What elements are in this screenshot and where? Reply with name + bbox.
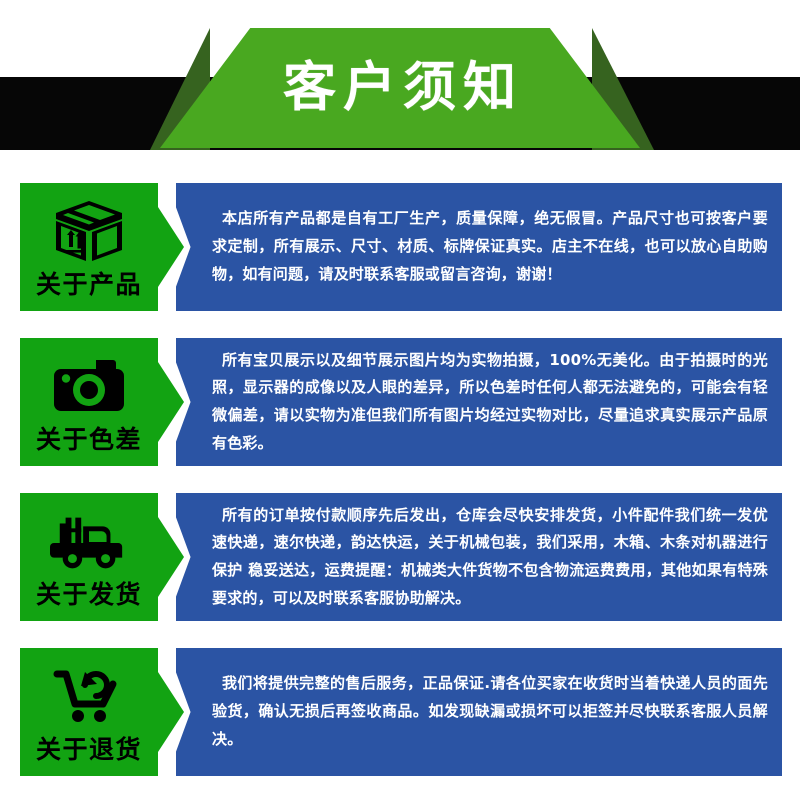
notice-arrow-tip xyxy=(158,362,184,442)
notice-body-text: 所有宝贝展示以及细节展示图片均为实物拍摄，100%无美化。由于拍摄时的光照，显示… xyxy=(212,347,768,458)
notice-label-text: 关于色差 xyxy=(36,426,142,454)
notice-label-panel[interactable]: 关于退货 xyxy=(20,648,158,776)
return-cart-icon xyxy=(50,662,128,732)
notice-label-text: 关于发货 xyxy=(36,581,142,609)
notice-arrow-tip xyxy=(158,517,184,597)
notice-body-panel: 所有的订单按付款顺序先后发出，仓库会尽快安排发货，小件配件我们统一发优速快递，速… xyxy=(176,493,782,621)
notice-label-panel[interactable]: 关于发货 xyxy=(20,493,158,621)
notice-label-panel[interactable]: 关于产品 xyxy=(20,183,158,311)
notice-block: 关于产品 本店所有产品都是自有工厂生产，质量保障，绝无假冒。产品尺寸也可按客户要… xyxy=(0,183,800,311)
banner-ribbon: 客户须知 xyxy=(160,28,640,148)
customer-notice-page: 客户须知 xyxy=(0,0,800,800)
notice-body-text: 本店所有产品都是自有工厂生产，质量保障，绝无假冒。产品尺寸也可按客户要求定制，所… xyxy=(212,205,768,288)
notice-block-list: 关于产品 本店所有产品都是自有工厂生产，质量保障，绝无假冒。产品尺寸也可按客户要… xyxy=(0,165,800,776)
forklift-truck-icon xyxy=(50,507,128,577)
camera-icon xyxy=(50,352,128,422)
notice-label-panel[interactable]: 关于色差 xyxy=(20,338,158,466)
carton-box-icon xyxy=(50,197,128,267)
notice-label-text: 关于退货 xyxy=(36,736,142,764)
header-banner: 客户须知 xyxy=(0,0,800,165)
notice-body-panel: 我们将提供完整的售后服务，正品保证.请各位买家在收货时当着快递人员的面先验货，确… xyxy=(176,648,782,776)
notice-arrow-tip xyxy=(158,672,184,752)
notice-body-text: 我们将提供完整的售后服务，正品保证.请各位买家在收货时当着快递人员的面先验货，确… xyxy=(212,670,768,753)
notice-label-text: 关于产品 xyxy=(36,271,142,299)
notice-block: 关于色差 所有宝贝展示以及细节展示图片均为实物拍摄，100%无美化。由于拍摄时的… xyxy=(0,338,800,466)
notice-body-text: 所有的订单按付款顺序先后发出，仓库会尽快安排发货，小件配件我们统一发优速快递，速… xyxy=(212,502,768,613)
page-title: 客户须知 xyxy=(277,61,523,116)
notice-body-panel: 所有宝贝展示以及细节展示图片均为实物拍摄，100%无美化。由于拍摄时的光照，显示… xyxy=(176,338,782,466)
notice-arrow-tip xyxy=(158,207,184,287)
notice-body-panel: 本店所有产品都是自有工厂生产，质量保障，绝无假冒。产品尺寸也可按客户要求定制，所… xyxy=(176,183,782,311)
notice-block: 关于退货 我们将提供完整的售后服务，正品保证.请各位买家在收货时当着快递人员的面… xyxy=(0,648,800,776)
notice-block: 关于发货 所有的订单按付款顺序先后发出，仓库会尽快安排发货，小件配件我们统一发优… xyxy=(0,493,800,621)
